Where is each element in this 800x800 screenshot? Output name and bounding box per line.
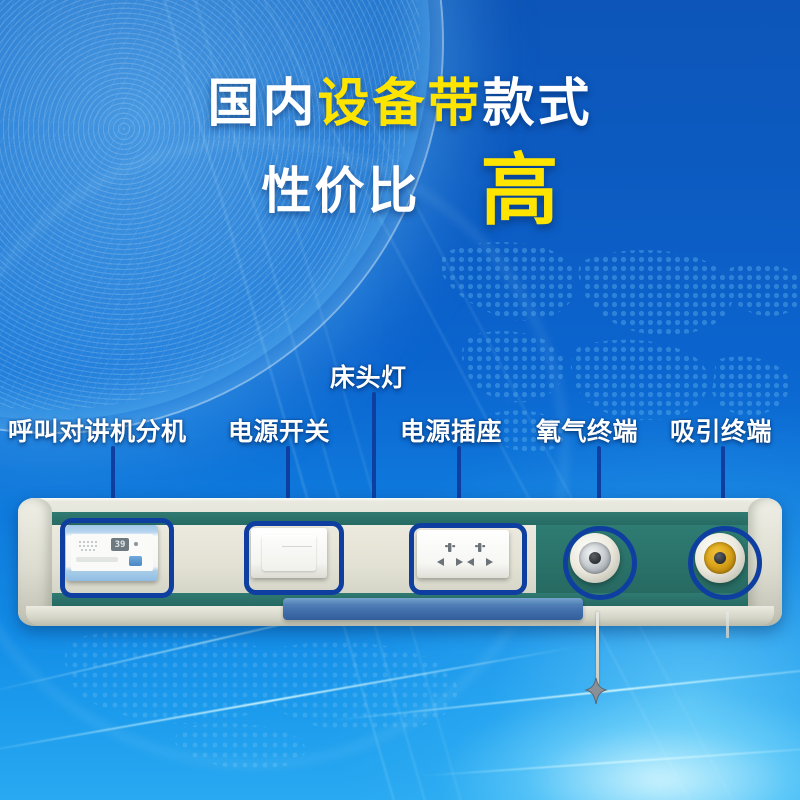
poster-canvas: 国内设备带款式 性价比 高 呼叫对讲机分机 电源开关 床头灯 电源插座 氧气终端… <box>0 0 800 800</box>
headline-l1-pre: 国内 <box>207 74 317 134</box>
headline-line-2: 性价比 高 <box>0 152 800 230</box>
callout-label-power-socket: 电源插座 <box>400 412 502 448</box>
callout-label-nurse-call-intercom: 呼叫对讲机分机 <box>8 412 187 448</box>
callout-label-power-switch: 电源开关 <box>228 412 330 448</box>
pull-cord-secondary[interactable] <box>726 612 729 638</box>
headline-block: 国内设备带款式 性价比 高 <box>0 78 800 230</box>
highlight-ring-oxygen <box>563 526 637 600</box>
highlight-box-switch <box>244 521 344 595</box>
halftone-world-map-secondary <box>60 620 480 770</box>
cross-hook-icon[interactable] <box>581 676 611 706</box>
headline-l2-yellow: 高 <box>480 152 558 230</box>
callout-label-bedside-lamp: 床头灯 <box>330 358 407 394</box>
headline-l1-mark: 设备带 <box>317 74 482 134</box>
headline-line-1: 国内设备带款式 <box>0 78 800 130</box>
pull-cord[interactable] <box>596 612 599 684</box>
callout-label-oxygen-terminal: 氧气终端 <box>536 412 638 448</box>
highlight-box-intercom <box>60 518 174 598</box>
callout-label-suction-terminal: 吸引终端 <box>670 412 772 448</box>
headline-l2-white: 性价比 <box>261 166 420 216</box>
highlight-ring-suction <box>688 526 762 600</box>
highlight-box-socket <box>409 523 527 595</box>
panel-reflective-strip <box>283 598 583 620</box>
headline-l1-post: 款式 <box>483 74 593 134</box>
